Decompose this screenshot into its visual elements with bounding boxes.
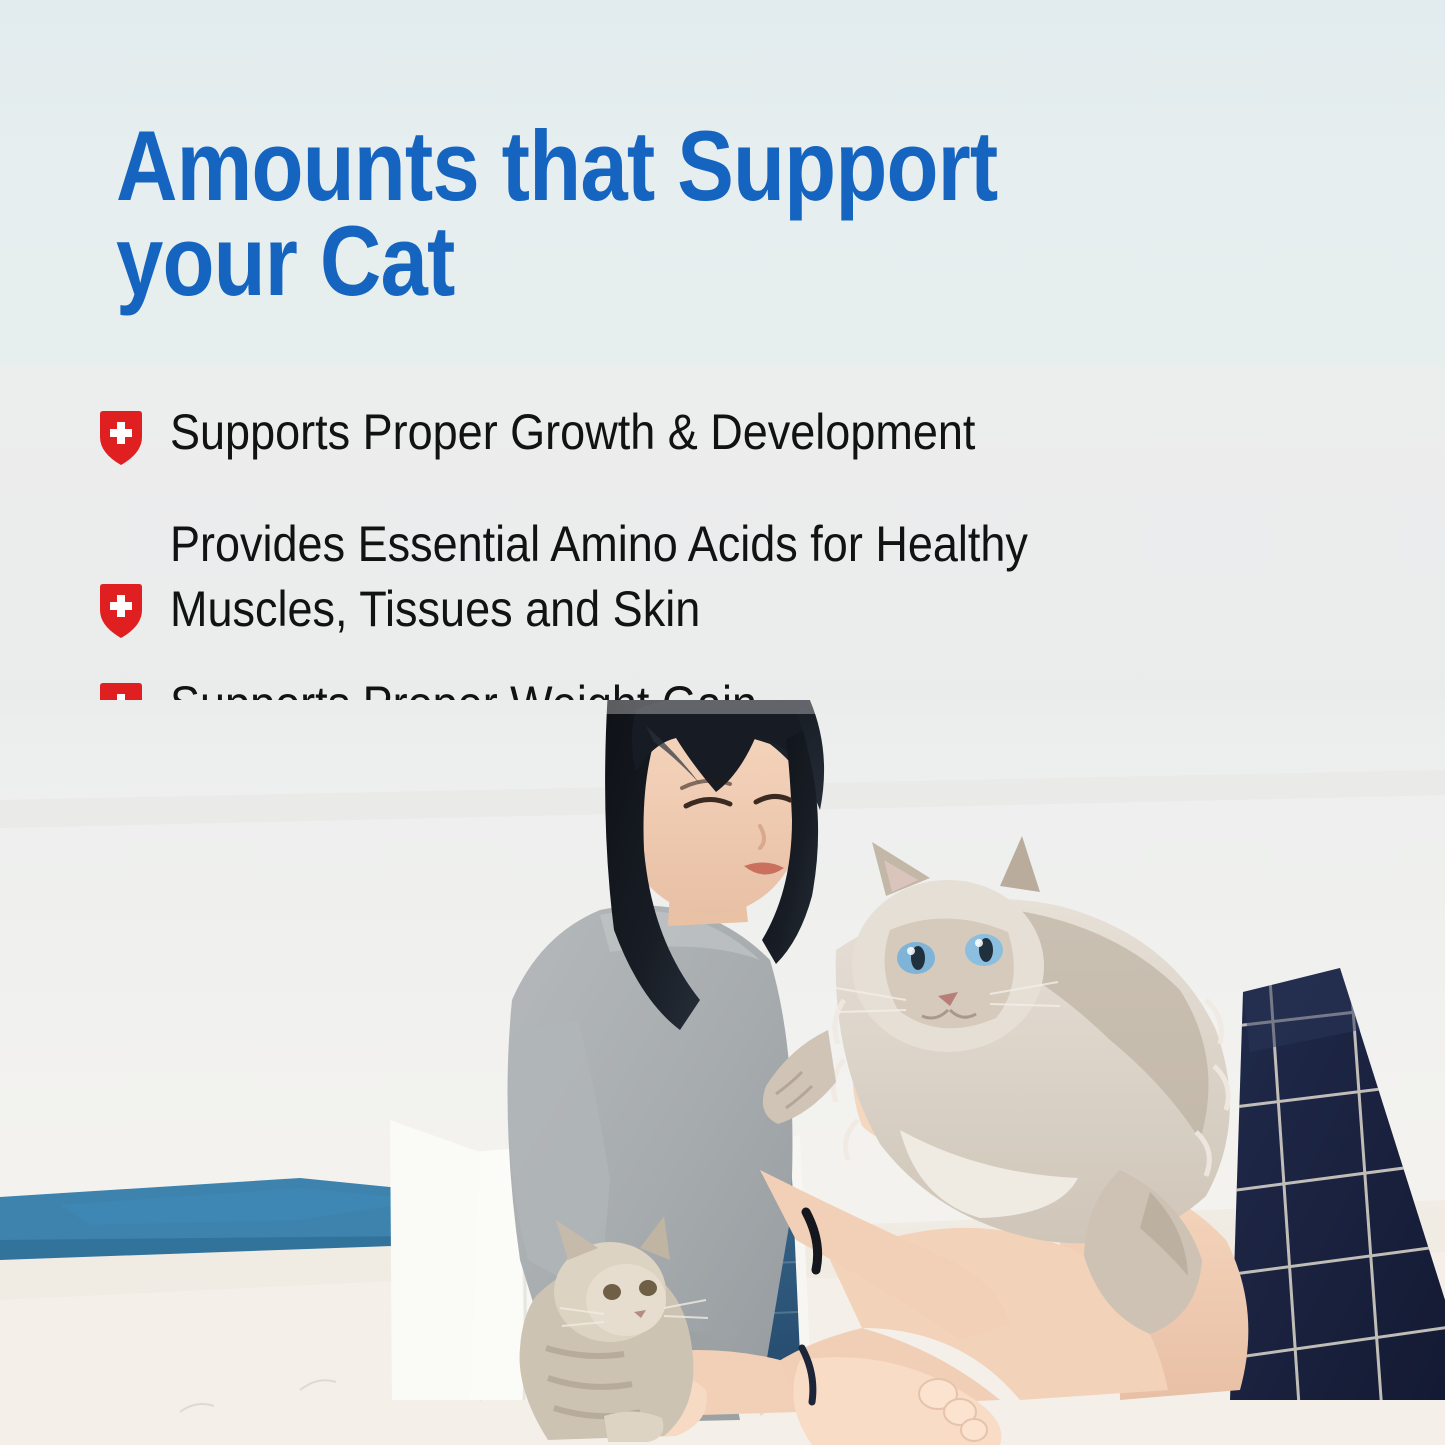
- lifestyle-photo: [0, 700, 1445, 1445]
- shield-plus-icon: [98, 583, 144, 639]
- product-benefits-panel: Amounts that Support your Cat Supports P…: [0, 0, 1445, 1445]
- page-title: Amounts that Support your Cat: [116, 118, 1131, 308]
- shield-plus-icon: [98, 410, 144, 466]
- list-item: Supports Proper Growth & Development: [98, 398, 1328, 466]
- photo-illustration: [0, 700, 1445, 1445]
- list-item: Provides Essential Amino Acids for Healt…: [98, 510, 1328, 642]
- list-item-label: Supports Proper Growth & Development: [170, 398, 975, 465]
- list-item-label: Provides Essential Amino Acids for Healt…: [170, 510, 1028, 642]
